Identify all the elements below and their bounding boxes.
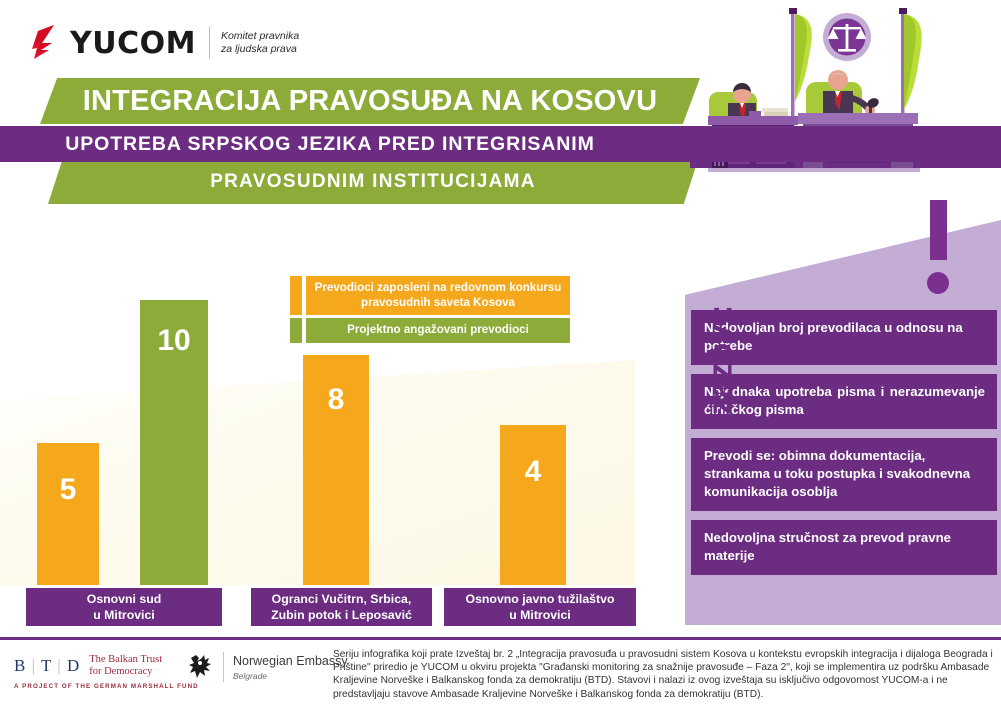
btd-letters: B | T | D	[14, 656, 80, 676]
norwegian-embassy-title: Norwegian Embassy	[233, 654, 348, 668]
bar-value-4: 4	[500, 455, 566, 489]
x-label-osnovni-sud-line2: u Mitrovici	[87, 607, 161, 623]
x-label-tuzilastvo-line1: Osnovno javno tužilaštvo	[466, 591, 615, 607]
x-label-ogranci-line2: Zubin potok i Leposavić	[271, 607, 412, 623]
judge-figure-icon	[806, 70, 875, 118]
legend-item-regular-competition: Prevodioci zaposleni na redovnom konkurs…	[290, 276, 570, 315]
exclamation-mark-icon	[930, 200, 947, 260]
btd-name-line2: for Democracy	[89, 666, 162, 678]
btd-name: The Balkan Trust for Democracy	[89, 654, 162, 678]
bar-value-5: 5	[37, 473, 99, 507]
x-label-tuzilastvo-line2: u Mitrovici	[466, 607, 615, 623]
legend-swatch-orange	[290, 276, 302, 315]
yucom-flame-icon	[28, 23, 62, 63]
norwegian-embassy-logo: Norwegian Embassy Belgrade	[188, 652, 348, 682]
challenges-heading: Izazovi:	[702, 265, 741, 465]
challenge-item-4: Nedovoljna stručnost za prevod pravne ma…	[691, 520, 997, 575]
header-title-band	[40, 78, 700, 124]
btd-name-line1: The Balkan Trust	[89, 654, 162, 666]
footer-divider	[0, 637, 1001, 640]
yucom-logo: YUCOM Komitet pravnika za ljudska prava	[28, 22, 299, 64]
yucom-wordmark: YUCOM	[70, 26, 196, 61]
legend-label-project-engaged: Projektno angažovani prevodioci	[306, 318, 570, 343]
x-label-ogranci: Ogranci Vučitrn, Srbica, Zubin potok i L…	[251, 588, 432, 626]
challenges-panel: Izazovi: Nedovoljan broj prevodilaca u o…	[655, 200, 1001, 625]
chart-legend: Prevodioci zaposleni na redovnom konkurs…	[290, 276, 570, 346]
bar-osnovni-sud-green: 10	[140, 300, 208, 585]
x-label-tuzilastvo: Osnovno javno tužilaštvo u Mitrovici	[444, 588, 636, 626]
exclamation-mark-dot-icon	[927, 272, 949, 294]
bar-tuzilastvo-orange: 4	[500, 425, 566, 585]
bar-osnovni-sud-orange: 5	[37, 443, 99, 585]
bar-ogranci-orange: 8	[303, 355, 369, 585]
norwegian-lion-crest-icon	[188, 652, 214, 682]
logo-tagline-line2: za ljudska prava	[221, 43, 299, 56]
btd-logo: B | T | D The Balkan Trust for Democracy…	[14, 654, 199, 690]
norwegian-logo-divider	[223, 652, 224, 682]
legend-item-project-engaged: Projektno angažovani prevodioci	[290, 318, 570, 343]
x-label-ogranci-line1: Ogranci Vučitrn, Srbica,	[271, 591, 412, 607]
logo-tagline-line1: Komitet pravnika	[221, 30, 299, 43]
page-subtitle-line2: PRAVOSUDNIM INSTITUCIJAMA	[48, 160, 698, 204]
logo-divider	[209, 27, 210, 59]
scales-of-justice-emblem-icon	[823, 13, 871, 61]
x-label-osnovni-sud: Osnovni sud u Mitrovici	[26, 588, 222, 626]
page-subtitle-line1: UPOTREBA SRPSKOG JEZIKA PRED INTEGRISANI…	[0, 126, 660, 162]
legend-label-regular-competition: Prevodioci zaposleni na redovnom konkurs…	[306, 276, 570, 315]
btd-letter-t: T	[41, 656, 52, 675]
legend-swatch-green	[290, 318, 302, 343]
footer: B | T | D The Balkan Trust for Democracy…	[0, 640, 1001, 708]
footer-disclaimer: Seriju infografika koji prate Izveštaj b…	[333, 648, 993, 701]
btd-letter-d: D	[67, 656, 80, 675]
bar-value-10: 10	[140, 324, 208, 358]
bar-value-8: 8	[303, 383, 369, 417]
x-label-osnovni-sud-line1: Osnovni sud	[87, 591, 161, 607]
btd-letter-b: B	[14, 656, 26, 675]
logo-tagline: Komitet pravnika za ljudska prava	[221, 30, 299, 56]
courtroom-scene-illustration	[690, 0, 1001, 200]
btd-subtitle: A PROJECT OF THE GERMAN MARSHALL FUND	[14, 683, 199, 690]
infographic-page: YUCOM Komitet pravnika za ljudska prava	[0, 0, 1001, 708]
norwegian-embassy-city: Belgrade	[233, 671, 348, 681]
